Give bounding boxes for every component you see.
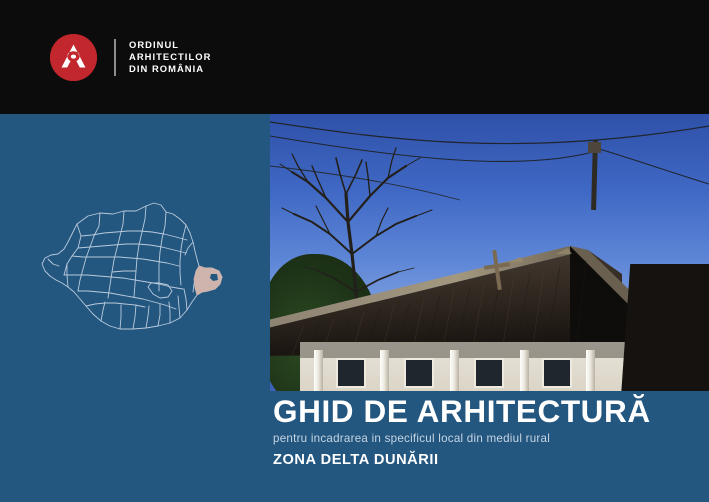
oar-a-monogram-logo-icon (50, 34, 97, 81)
logo-line-3: DIN ROMÂNIA (129, 63, 211, 75)
cover-title-block: GHID DE ARHITECTURĂ pentru incadrarea in… (273, 394, 703, 470)
photo-porch-column (586, 350, 595, 391)
map-panel (0, 114, 270, 502)
page-zone: ZONA DELTA DUNĂRII (273, 451, 703, 470)
photo-porch-column (314, 350, 323, 391)
organization-logo[interactable]: ORDINUL ARHITECTILOR DIN ROMÂNIA (50, 34, 211, 81)
photo-porch-column (520, 350, 529, 391)
cover-page: ORDINUL ARHITECTILOR DIN ROMÂNIA (0, 0, 709, 502)
page-subtitle: pentru incadrarea in specificul local di… (273, 430, 703, 447)
cover-photo (270, 114, 709, 391)
photo-pole-box (588, 142, 601, 153)
logo-divider (114, 39, 116, 76)
header-band: ORDINUL ARHITECTILOR DIN ROMÂNIA (0, 0, 709, 114)
page-title: GHID DE ARHITECTURĂ (273, 394, 703, 428)
romania-counties-map (20, 192, 250, 357)
photo-window (336, 358, 366, 388)
photo-porch-column (450, 350, 459, 391)
photo-window (404, 358, 434, 388)
logo-line-2: ARHITECTILOR (129, 51, 211, 63)
photo-gable-wall (620, 264, 709, 391)
organization-name: ORDINUL ARHITECTILOR DIN ROMÂNIA (129, 39, 211, 76)
map-highlight-delta-dunarii (194, 266, 222, 295)
photo-porch-column (380, 350, 389, 391)
photo-window (542, 358, 572, 388)
photo-window (474, 358, 504, 388)
logo-line-1: ORDINUL (129, 39, 211, 51)
